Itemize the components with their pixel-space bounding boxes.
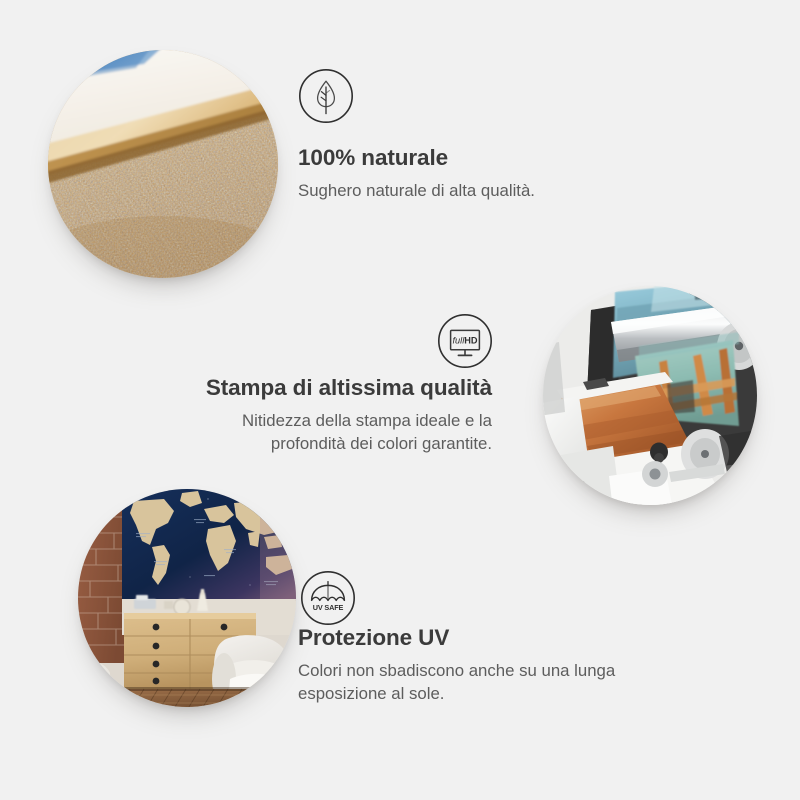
uv-safe-label: UV SAFE [313,603,344,612]
feature-block-uv-protection: UV SAFE Protezione UV Colori non sbadisc… [0,0,800,800]
feature-highlights-panel: 100% naturale Sughero naturale di alta q… [0,0,800,800]
world-map-room-photo [78,489,296,707]
feature-description: Colori non sbadiscono anche su una lunga… [298,659,678,707]
feature-title: Protezione UV [298,625,678,652]
feature-text-uv-protection: Protezione UV Colori non sbadiscono anch… [298,625,678,706]
uv-safe-umbrella-icon: UV SAFE [300,570,356,626]
world-map-room-photo-wrapper [78,489,296,707]
